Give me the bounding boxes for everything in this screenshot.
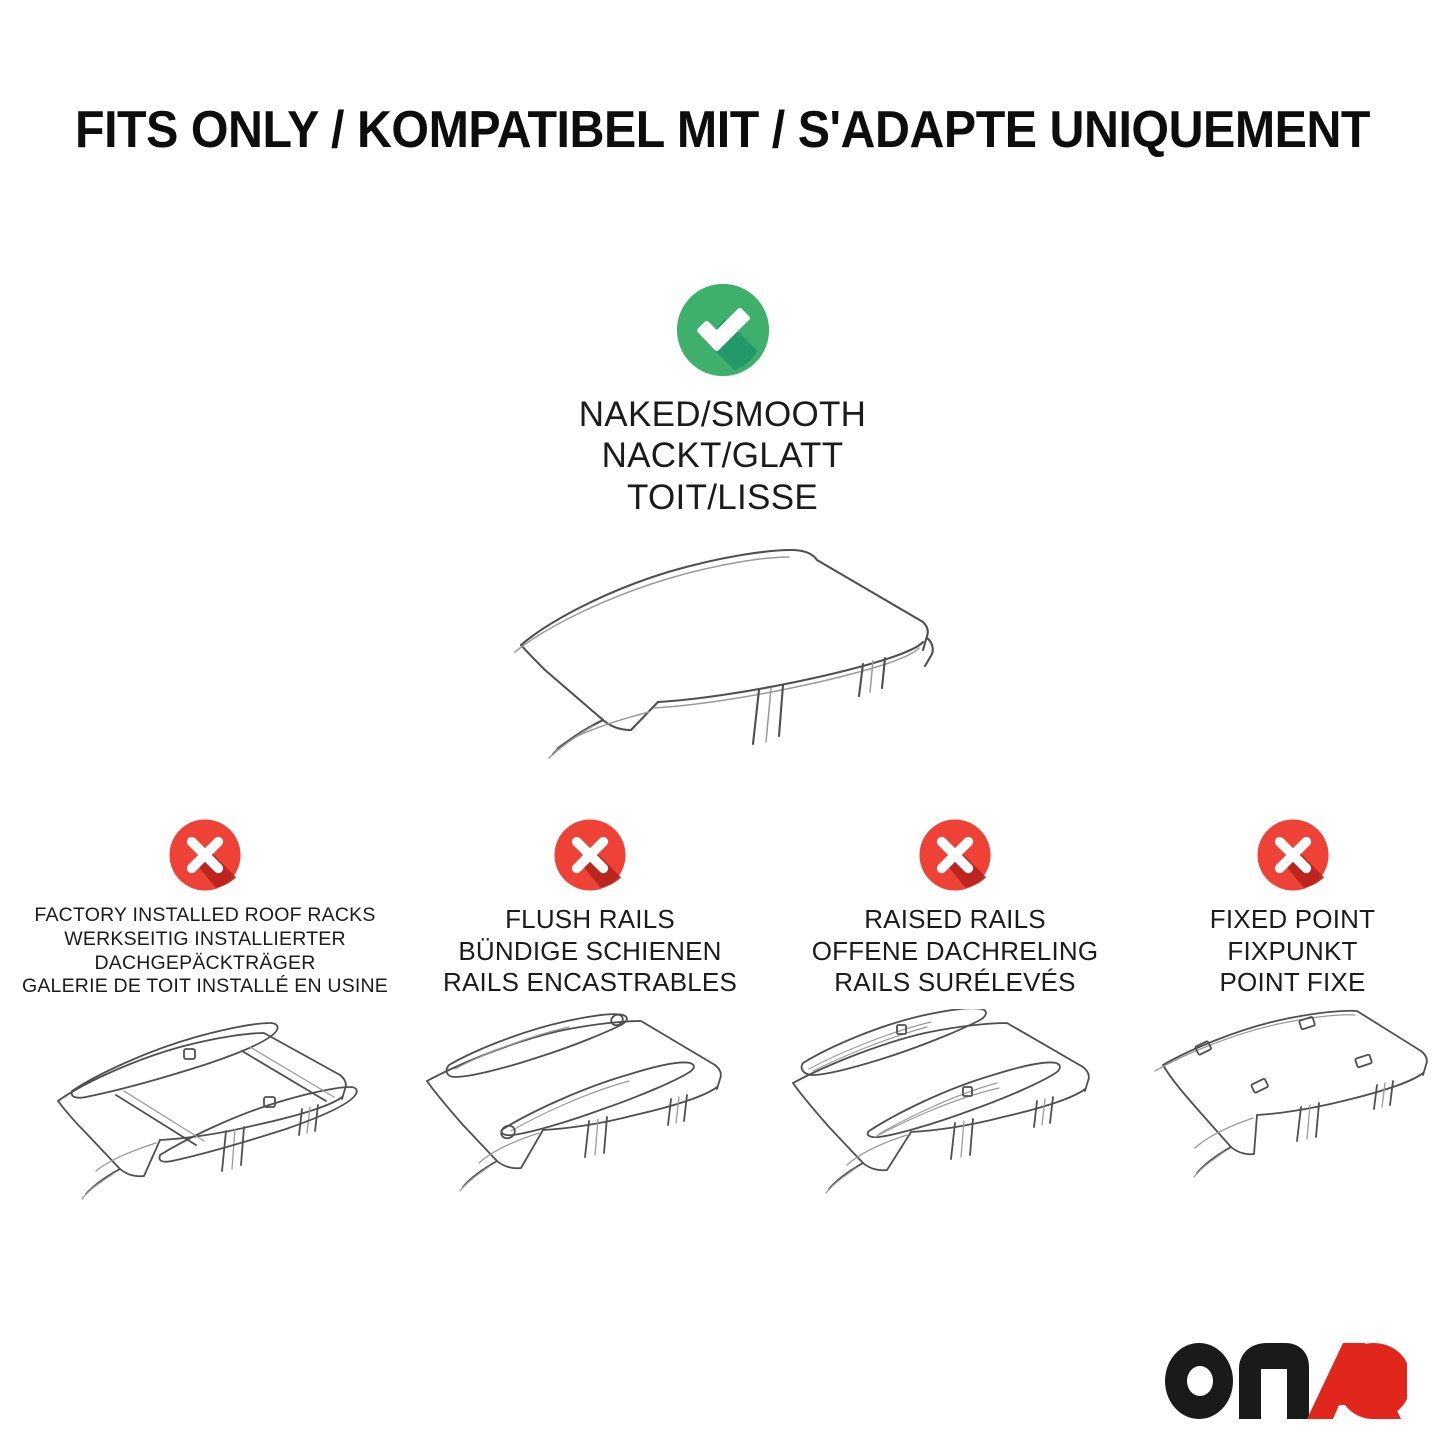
label-line-2: FIXPUNKT bbox=[1210, 936, 1375, 968]
incompatible-item-factory-installed-roof-racks: FACTORY INSTALLED ROOF RACKS WERKSEITIG … bbox=[0, 818, 410, 1224]
cross-circle-icon bbox=[553, 818, 627, 892]
check-circle-icon bbox=[675, 282, 771, 378]
compatible-label-de: NACKT/GLATT bbox=[579, 435, 867, 476]
label-line-2: BÜNDIGE SCHIENEN bbox=[443, 936, 737, 968]
compatible-labels: NAKED/SMOOTH NACKT/GLATT TOIT/LISSE bbox=[579, 394, 867, 518]
label-line-1: FIXED POINT bbox=[1210, 904, 1375, 936]
label-line-1: FACTORY INSTALLED ROOF RACKS bbox=[22, 904, 388, 928]
label-line-3: RAILS ENCASTRABLES bbox=[443, 967, 737, 999]
label-line-2: OFFENE DACHRELING bbox=[812, 936, 1099, 968]
incompatible-labels: FLUSH RAILS BÜNDIGE SCHIENEN RAILS ENCAS… bbox=[443, 904, 737, 999]
incompatible-item-flush-rails: FLUSH RAILS BÜNDIGE SCHIENEN RAILS ENCAS… bbox=[410, 818, 770, 1224]
compatibility-infographic: FITS ONLY / KOMPATIBEL MIT / S'ADAPTE UN… bbox=[0, 0, 1445, 1445]
label-line-3: POINT FIXE bbox=[1210, 967, 1375, 999]
cross-circle-icon bbox=[168, 818, 242, 892]
incompatible-labels: FIXED POINT FIXPUNKT POINT FIXE bbox=[1210, 904, 1375, 999]
incompatible-item-fixed-point: FIXED POINT FIXPUNKT POINT FIXE bbox=[1140, 818, 1445, 1224]
incompatible-section: FACTORY INSTALLED ROOF RACKS WERKSEITIG … bbox=[0, 818, 1445, 1224]
label-line-1: FLUSH RAILS bbox=[443, 904, 737, 936]
incompatible-item-raised-rails: RAISED RAILS OFFENE DACHRELING RAILS SUR… bbox=[770, 818, 1140, 1224]
car-roof-flush-rails-illustration bbox=[413, 1009, 768, 1224]
label-line-2: WERKSEITIG INSTALLIERTER bbox=[22, 928, 388, 952]
car-roof-raised-rails-illustration bbox=[773, 1009, 1138, 1224]
car-roof-fixed-point-illustration bbox=[1133, 1009, 1445, 1224]
compatible-label-en: NAKED/SMOOTH bbox=[579, 394, 867, 435]
cross-circle-icon bbox=[1256, 818, 1330, 892]
page-title: FITS ONLY / KOMPATIBEL MIT / S'ADAPTE UN… bbox=[51, 100, 1395, 160]
label-line-4: GALERIE DE TOIT INSTALLÉ EN USINE bbox=[22, 975, 388, 999]
incompatible-labels: FACTORY INSTALLED ROOF RACKS WERKSEITIG … bbox=[22, 904, 388, 999]
incompatible-labels: RAISED RAILS OFFENE DACHRELING RAILS SUR… bbox=[812, 904, 1099, 999]
compatible-section: NAKED/SMOOTH NACKT/GLATT TOIT/LISSE bbox=[0, 282, 1445, 780]
car-roof-factory-rack-illustration bbox=[20, 1009, 390, 1224]
omac-logo bbox=[1157, 1335, 1407, 1427]
label-line-1: RAISED RAILS bbox=[812, 904, 1099, 936]
cross-circle-icon bbox=[918, 818, 992, 892]
label-line-3: DACHGEPÄCKTRÄGER bbox=[22, 952, 388, 976]
car-roof-naked-smooth-illustration bbox=[453, 530, 993, 780]
label-line-3: RAILS SURÉLEVÉS bbox=[812, 967, 1099, 999]
compatible-label-fr: TOIT/LISSE bbox=[579, 477, 867, 518]
